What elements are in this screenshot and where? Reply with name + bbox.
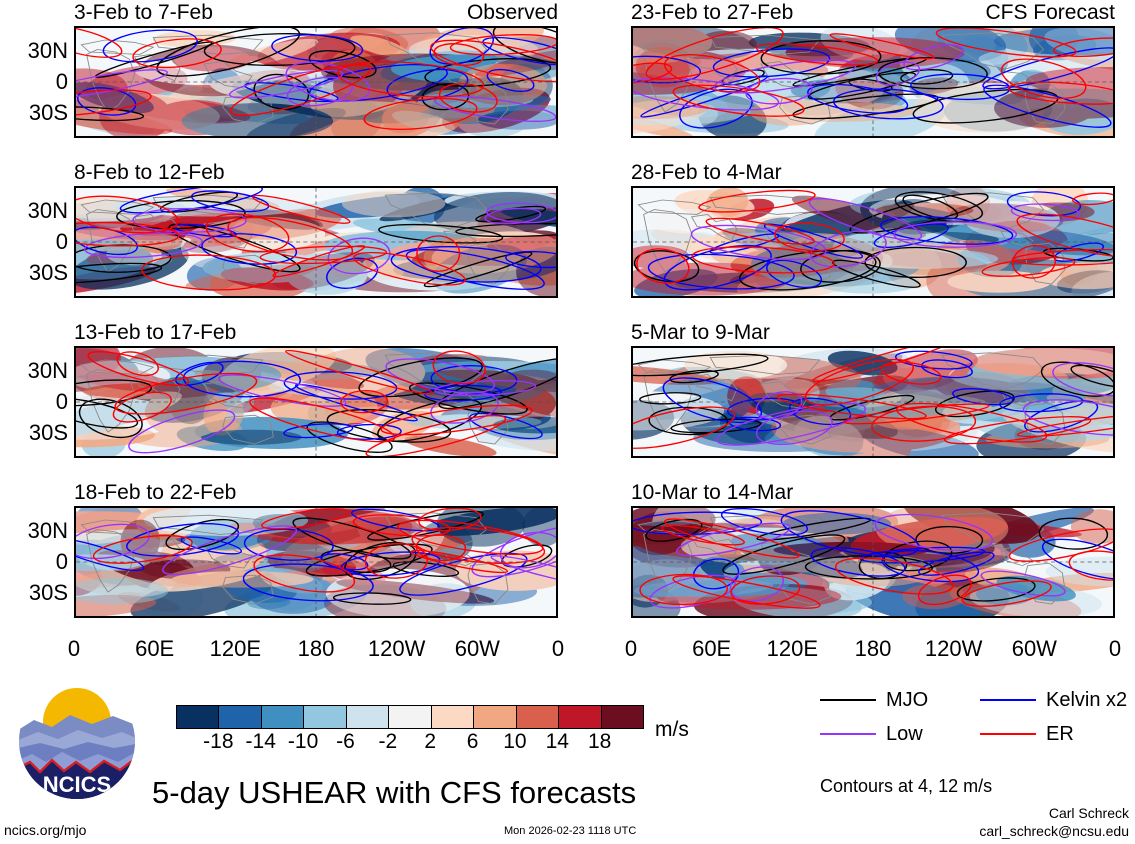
map-panel[interactable] [631, 346, 1115, 458]
panel-3: 13-Feb to 17-Feb [74, 322, 558, 458]
legend-label: MJO [886, 690, 928, 710]
panel-1: 3-Feb to 7-FebObserved [74, 2, 558, 138]
map-panel[interactable] [74, 186, 558, 298]
column-header: CFS Forecast [985, 2, 1115, 23]
colorbar-tick-label: -14 [246, 731, 276, 752]
y-tick-label: 30N [0, 520, 68, 542]
map-panel[interactable] [631, 506, 1115, 618]
y-tick-label: 30S [0, 102, 68, 124]
map-field [76, 508, 556, 616]
y-tick-label: 30N [0, 200, 68, 222]
y-tick-label: 30S [0, 422, 68, 444]
colorbar-tick-label: 2 [424, 731, 436, 752]
map-field [76, 348, 556, 456]
colorbar-tick-labels: -18-14-10-6-226101418 [176, 731, 642, 755]
colorbar-units-label: m/s [655, 719, 689, 740]
colorbar-segment [432, 706, 474, 728]
panel-title: 28-Feb to 4-Mar [631, 162, 782, 183]
y-tick-label: 0 [0, 551, 68, 573]
colorbar-tick-label: -2 [378, 731, 397, 752]
colorbar-tick-label: 18 [588, 731, 611, 752]
map-field [633, 28, 1113, 136]
x-tick-label: 0 [1109, 638, 1121, 660]
contour-legend: MJOKelvin x2LowER [820, 690, 1120, 756]
colorbar-tick-label: -18 [203, 731, 233, 752]
panel-title: 13-Feb to 17-Feb [74, 322, 236, 343]
map-panel[interactable] [74, 346, 558, 458]
panel-title: 5-Mar to 9-Mar [631, 322, 770, 343]
colorbar-segment [559, 706, 601, 728]
y-tick-label: 0 [0, 391, 68, 413]
panel-7: 5-Mar to 9-Mar [631, 322, 1115, 458]
panel-8: 10-Mar to 14-Mar [631, 482, 1115, 618]
ncics-logo: NCICS [18, 682, 136, 800]
x-tick-label: 0 [625, 638, 637, 660]
map-panel[interactable] [74, 26, 558, 138]
legend-label: Low [886, 724, 923, 744]
x-tick-label: 180 [298, 638, 335, 660]
legend-item-mjo[interactable]: MJO [820, 690, 928, 710]
ncics-logo-svg: NCICS [18, 682, 136, 800]
y-tick-label: 30N [0, 40, 68, 62]
colorbar-tick-label: 14 [546, 731, 569, 752]
colorbar-tick-label: -6 [336, 731, 355, 752]
panel-2: 8-Feb to 12-Feb [74, 162, 558, 298]
map-field [633, 188, 1113, 296]
x-tick-label: 60W [1012, 638, 1057, 660]
x-tick-label: 60E [135, 638, 174, 660]
colorbar [176, 705, 644, 729]
legend-label: Kelvin x2 [1046, 690, 1127, 710]
map-panel[interactable] [74, 506, 558, 618]
panel-title: 8-Feb to 12-Feb [74, 162, 225, 183]
ncics-logo-text: NCICS [43, 772, 111, 797]
colorbar-segment [262, 706, 304, 728]
colorbar-tick-label: 10 [503, 731, 526, 752]
legend-label: ER [1046, 724, 1074, 744]
y-tick-label: 30S [0, 582, 68, 604]
map-panel[interactable] [631, 186, 1115, 298]
panel-title: 23-Feb to 27-Feb [631, 2, 793, 23]
x-tick-label: 120E [767, 638, 818, 660]
x-tick-label: 0 [552, 638, 564, 660]
colorbar-tick-label: 6 [467, 731, 479, 752]
panel-title: 18-Feb to 22-Feb [74, 482, 236, 503]
figure-main-title: 5-day USHEAR with CFS forecasts [152, 777, 636, 808]
colorbar-segment [602, 706, 643, 728]
legend-line-swatch [980, 733, 1036, 735]
x-tick-label: 120W [368, 638, 425, 660]
map-panel[interactable] [631, 26, 1115, 138]
panel-title: 10-Mar to 14-Mar [631, 482, 793, 503]
panel-4: 18-Feb to 22-Feb [74, 482, 558, 618]
map-field [633, 508, 1113, 616]
colorbar-segment [219, 706, 261, 728]
panel-6: 28-Feb to 4-Mar [631, 162, 1115, 298]
panel-5: 23-Feb to 27-FebCFS Forecast [631, 2, 1115, 138]
x-tick-label: 60W [455, 638, 500, 660]
colorbar-segment [304, 706, 346, 728]
y-tick-label: 0 [0, 231, 68, 253]
x-axis-right: 060E120E180120W60W0 [631, 638, 1115, 664]
contour-levels-note: Contours at 4, 12 m/s [820, 777, 992, 795]
panel-title: 3-Feb to 7-Feb [74, 2, 213, 23]
generation-timestamp: Mon 2026-02-23 1118 UTC [504, 826, 636, 837]
legend-line-swatch [980, 699, 1036, 701]
legend-item-er[interactable]: ER [980, 724, 1074, 744]
colorbar-segment [517, 706, 559, 728]
colorbar-segment [347, 706, 389, 728]
x-tick-label: 120W [925, 638, 982, 660]
author-email[interactable]: carl_schreck@ncsu.edu [979, 824, 1129, 838]
colorbar-segment [389, 706, 431, 728]
legend-line-swatch [820, 733, 876, 735]
x-axis-left: 060E120E180120W60W0 [74, 638, 558, 664]
x-tick-label: 180 [855, 638, 892, 660]
map-field [633, 348, 1113, 456]
x-tick-label: 120E [210, 638, 261, 660]
x-tick-label: 60E [692, 638, 731, 660]
legend-item-kelvin-x2[interactable]: Kelvin x2 [980, 690, 1127, 710]
y-tick-label: 0 [0, 71, 68, 93]
colorbar-tick-label: -10 [288, 731, 318, 752]
map-field [76, 188, 556, 296]
map-field [76, 28, 556, 136]
colorbar-segment [177, 706, 219, 728]
column-header: Observed [467, 2, 558, 23]
site-link[interactable]: ncics.org/mjo [4, 823, 86, 837]
legend-item-low[interactable]: Low [820, 724, 923, 744]
author-name: Carl Schreck [1049, 806, 1129, 820]
y-tick-label: 30S [0, 262, 68, 284]
colorbar-segment [474, 706, 516, 728]
y-tick-label: 30N [0, 360, 68, 382]
legend-line-swatch [820, 699, 876, 701]
x-tick-label: 0 [68, 638, 80, 660]
